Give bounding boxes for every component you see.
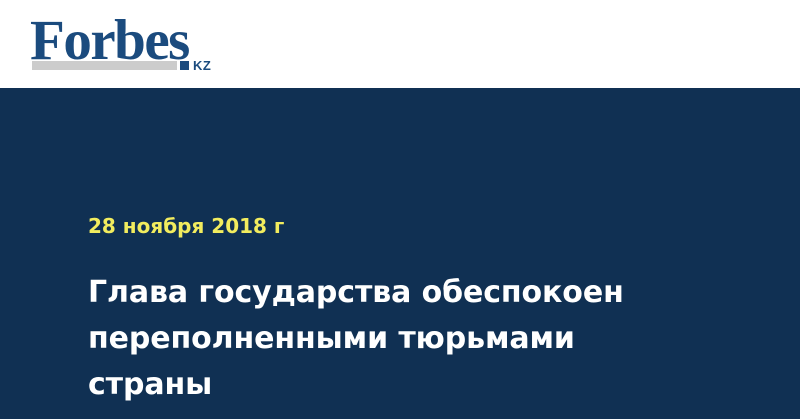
logo-rule-divider [32,61,177,70]
site-header: Forbes KZ [0,0,800,88]
logo-square-icon [180,61,189,70]
article-headline: Глава государства обеспокоен переполненн… [88,270,688,408]
hero-banner: 28 ноября 2018 г Глава государства обесп… [0,88,800,419]
article-publish-date: 28 ноября 2018 г [88,214,284,238]
forbes-kz-logo[interactable]: Forbes KZ [30,12,226,74]
logo-locale-label: KZ [193,59,211,72]
article-hero-page: Forbes KZ 28 ноября 2018 г Глава государ… [0,0,800,419]
